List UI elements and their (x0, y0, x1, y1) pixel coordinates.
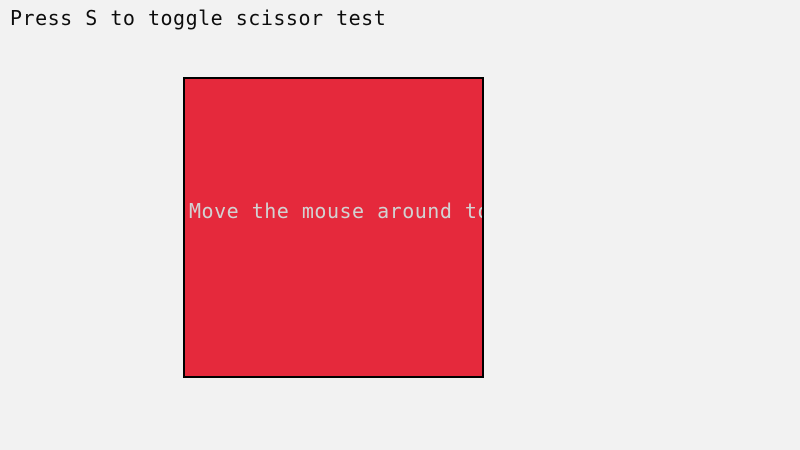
scissor-toggle-hint: Press S to toggle scissor test (10, 6, 386, 30)
scissor-clipped-message: Move the mouse around to reveal the hidd… (189, 199, 484, 223)
demo-canvas[interactable]: Press S to toggle scissor test Move the … (0, 0, 800, 450)
scissor-region-box[interactable]: Move the mouse around to reveal the hidd… (183, 77, 484, 378)
